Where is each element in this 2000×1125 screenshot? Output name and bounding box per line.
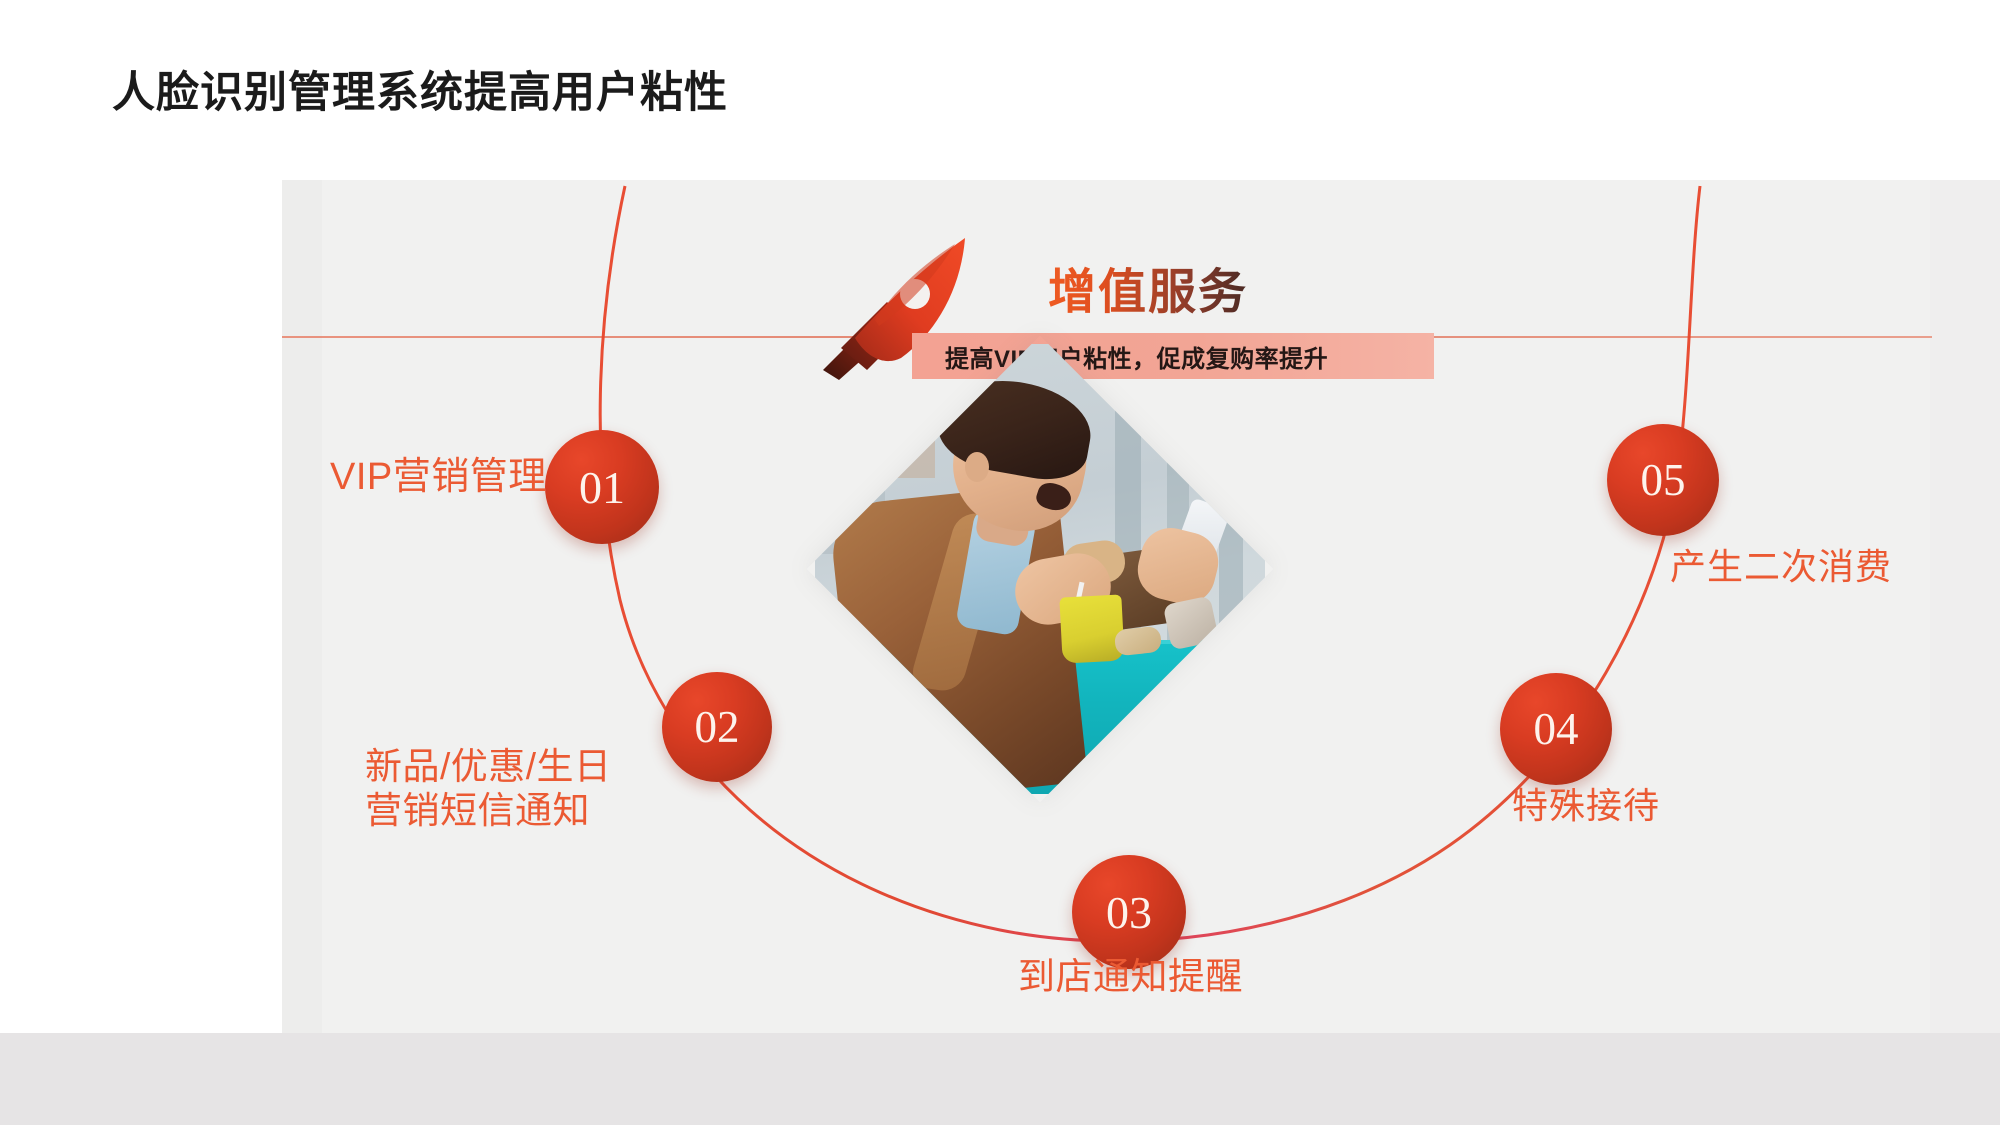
panel-left-shade [282, 180, 322, 1033]
step-node-02[interactable]: 02 [662, 672, 772, 782]
step-node-01[interactable]: 01 [545, 430, 659, 544]
step-node-04[interactable]: 04 [1500, 673, 1612, 785]
panel-right-shade [1930, 180, 2000, 1033]
step-label-02: 新品/优惠/生日 营销短信通知 [365, 745, 612, 832]
section-heading: 增值服务 [1048, 252, 1248, 322]
bottom-band [0, 1033, 2000, 1125]
step-label-03: 到店通知提醒 [1018, 955, 1243, 999]
step-label-04: 特殊接待 [1512, 785, 1660, 827]
step-label-05: 产生二次消费 [1670, 546, 1892, 588]
slide-canvas: 人脸识别管理系统提高用户粘性 [0, 0, 2000, 1125]
left-margin-strip [0, 0, 282, 1033]
subtitle-banner-text: 提高VIP客户粘性，促成复购率提升 [945, 339, 1328, 374]
step-label-01: VIP营销管理 [330, 455, 547, 500]
step-node-05[interactable]: 05 [1607, 424, 1719, 536]
page-title: 人脸识别管理系统提高用户粘性 [112, 58, 728, 120]
step-node-03[interactable]: 03 [1072, 855, 1186, 969]
subtitle-banner: 提高VIP客户粘性，促成复购率提升 [912, 333, 1434, 379]
